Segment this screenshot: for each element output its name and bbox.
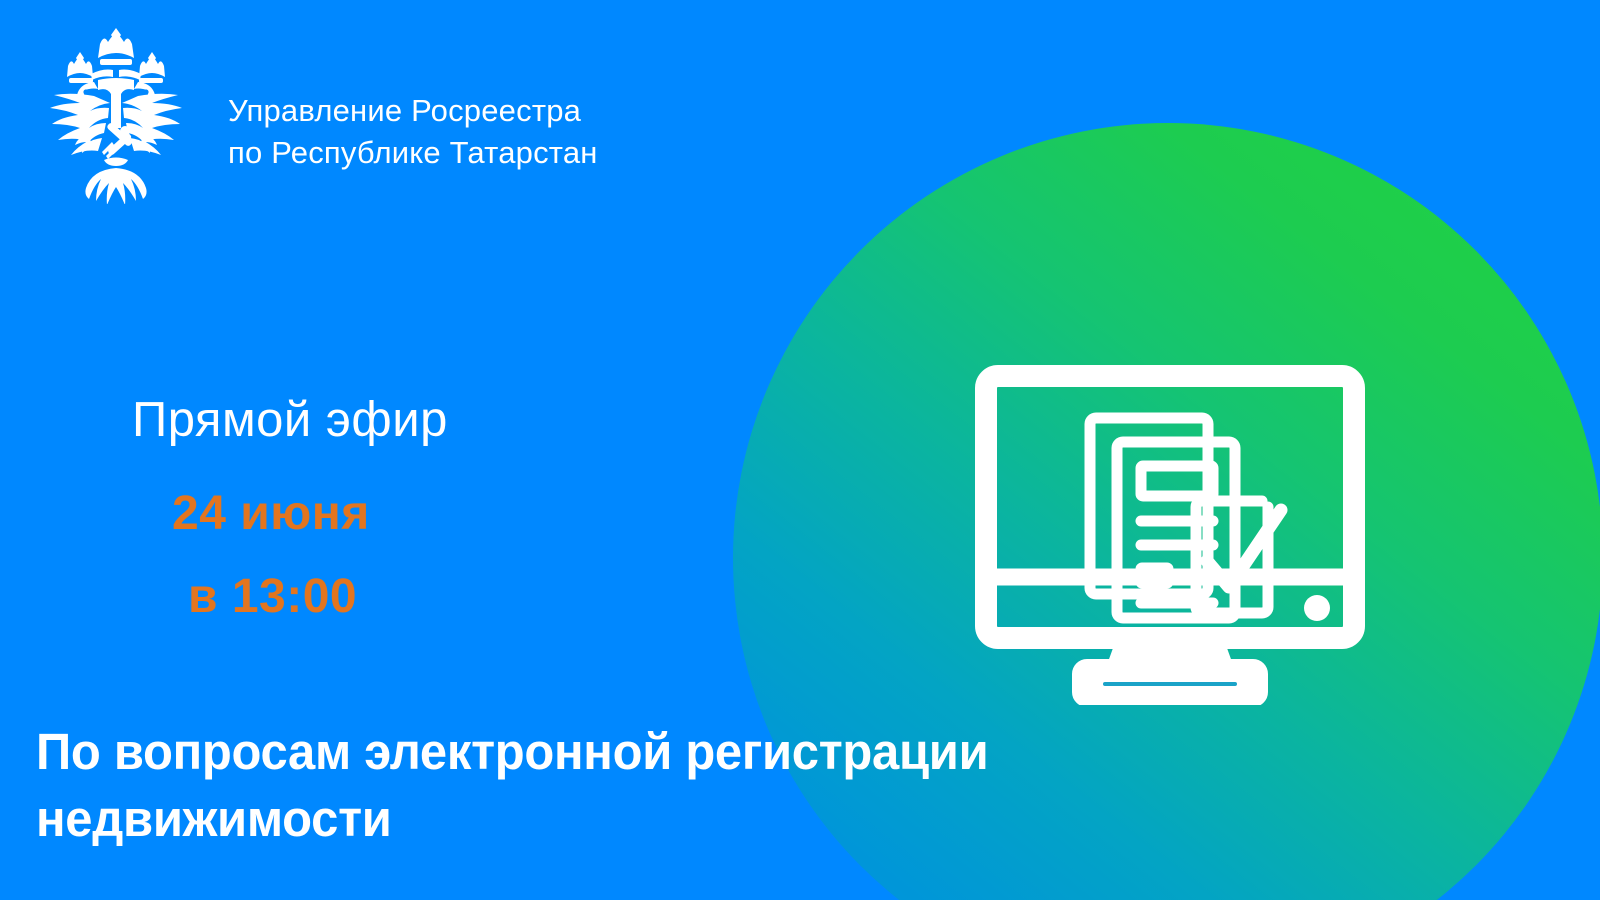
poster-canvas: Управление Росреестра по Республике Тата…: [0, 0, 1600, 900]
monitor-power-indicator: [1304, 595, 1330, 621]
monitor-with-document-check-icon: [975, 365, 1365, 705]
broadcast-time: в 13:00: [188, 573, 357, 621]
brand-org-name: Управление Росреестра по Республике Тата…: [228, 90, 598, 174]
double-headed-eagle-emblem-icon: [28, 22, 204, 204]
brand-lockup: Управление Росреестра по Республике Тата…: [28, 22, 598, 204]
brand-org-line-1: Управление Росреестра: [228, 93, 581, 128]
brand-org-line-2: по Республике Татарстан: [228, 135, 598, 170]
broadcast-date: 24 июня: [172, 490, 370, 538]
broadcast-topic: По вопросам электронной регистрации недв…: [36, 718, 1092, 853]
document-header-box: [1141, 466, 1213, 496]
live-broadcast-label: Прямой эфир: [132, 396, 448, 445]
